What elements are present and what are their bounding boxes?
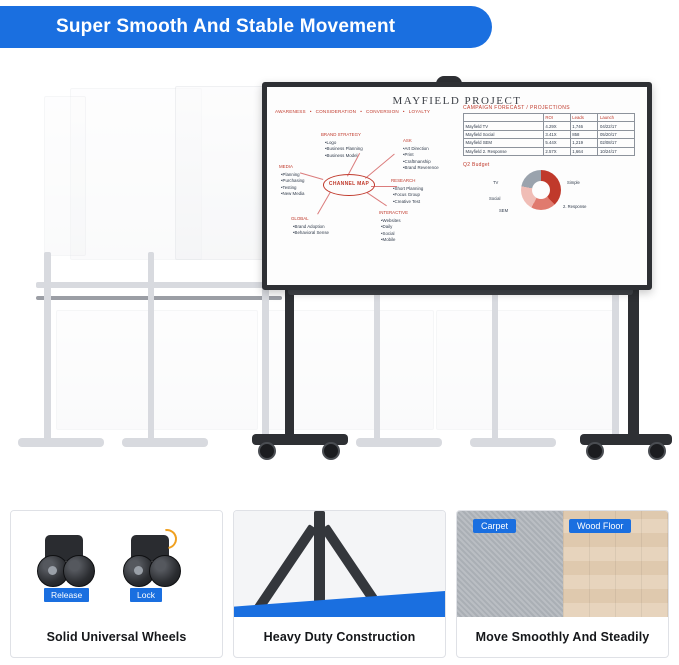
col-header-3: Launch bbox=[598, 114, 635, 122]
funnel-sep-0: • bbox=[310, 109, 312, 114]
carpet-badge: Carpet bbox=[473, 519, 516, 533]
ghost-foot-3 bbox=[356, 438, 442, 447]
wheels-media: Release Lock bbox=[11, 511, 222, 617]
caster-hub-left bbox=[48, 566, 57, 575]
hero-scene: MAYFIELD PROJECT AWARENESS • CONSIDERATI… bbox=[0, 52, 679, 497]
mindmap-branch-items-4: •Brand Adoption•Behavioral Sense bbox=[293, 224, 329, 237]
wood-floor-badge: Wood Floor bbox=[569, 519, 631, 533]
cell-r2c3: 02/08/17 bbox=[598, 139, 635, 147]
table-row: Mayfield Social 3.41X 858 05/20/17 bbox=[464, 130, 635, 138]
ghost-lower-panel-1 bbox=[56, 310, 258, 430]
col-header-0 bbox=[464, 114, 544, 122]
mindmap-spoke-3 bbox=[371, 186, 397, 187]
ghost-post-1 bbox=[44, 252, 51, 442]
col-header-2: Leads bbox=[570, 114, 598, 122]
mindmap-spoke-5 bbox=[366, 192, 386, 206]
ghost-board-3 bbox=[44, 96, 86, 256]
floors-caption: Move Smoothly And Steadily bbox=[457, 617, 668, 657]
donut-title: Q2 Budget bbox=[463, 162, 635, 168]
donut-label-3: Simple bbox=[567, 180, 580, 185]
cell-r3c0: Mayfield 2. Response bbox=[464, 147, 544, 155]
headline-banner: Super Smooth And Stable Movement bbox=[0, 6, 492, 48]
mindmap-spoke-1 bbox=[365, 154, 395, 179]
cell-r1c0: Mayfield Social bbox=[464, 130, 544, 138]
ghost-foot-1 bbox=[18, 438, 104, 447]
cell-r0c3: 04/22/17 bbox=[598, 122, 635, 130]
whiteboard-surface: MAYFIELD PROJECT AWARENESS • CONSIDERATI… bbox=[267, 87, 647, 285]
funnel-sep-1: • bbox=[360, 109, 362, 114]
mindmap: CHANNEL MAP BRAND STRATEGY •Logo•Busines… bbox=[275, 116, 455, 256]
mindmap-branch-label-0: BRAND STRATEGY bbox=[321, 132, 361, 138]
cell-r1c3: 05/20/17 bbox=[598, 130, 635, 138]
funnel-stage-1: CONSIDERATION bbox=[316, 109, 357, 114]
construction-caption: Heavy Duty Construction bbox=[234, 617, 445, 657]
caster-tire-left-2 bbox=[63, 555, 95, 587]
funnel-stage-2: CONVERSION bbox=[366, 109, 399, 114]
col-header-1: ROI bbox=[543, 114, 570, 122]
cell-r0c0: Mayfield TV bbox=[464, 122, 544, 130]
mindmap-branch-label-3: RESEARCH bbox=[391, 178, 415, 184]
funnel-stage-row: AWARENESS • CONSIDERATION • CONVERSION •… bbox=[275, 109, 455, 114]
budget-donut-chart: Q2 Budget TV Social SEM Simple 2. Respon… bbox=[463, 162, 635, 214]
lock-badge: Lock bbox=[129, 587, 163, 603]
feature-card-floors: Carpet Wood Floor Move Smoothly And Stea… bbox=[456, 510, 669, 658]
forecast-table: CAMPAIGN FORECAST / PROJECTIONS ROI Lead… bbox=[463, 105, 635, 156]
caster-wheel-front-left bbox=[258, 442, 276, 460]
board-mindmap-section: AWARENESS • CONSIDERATION • CONVERSION •… bbox=[275, 109, 455, 256]
caster-wheel-back-right bbox=[648, 442, 666, 460]
product-image-page: Super Smooth And Stable Movement bbox=[0, 0, 679, 665]
ghost-foot-4 bbox=[470, 438, 556, 447]
mindmap-branch-items-5: •Websites•Daily•Social•Mobile bbox=[381, 218, 401, 244]
mindmap-branch-label-1: ASK bbox=[403, 138, 412, 144]
cell-r2c0: Mayfield SEM bbox=[464, 139, 544, 147]
mindmap-branch-label-4: GLOBAL bbox=[291, 216, 309, 222]
table-row: Mayfield TV 4.29X 1,746 04/22/17 bbox=[464, 122, 635, 130]
ghost-crossbar-top bbox=[36, 282, 282, 288]
board-table-section: CAMPAIGN FORECAST / PROJECTIONS ROI Lead… bbox=[463, 105, 635, 214]
donut-ring bbox=[521, 170, 561, 210]
mindmap-branch-label-5: INTERACTIVE bbox=[379, 210, 408, 216]
cell-r1c2: 858 bbox=[570, 130, 598, 138]
mindmap-branch-items-2: •Planning•Purchasing•Testing•New Media bbox=[281, 172, 305, 198]
cell-r3c2: 1,664 bbox=[570, 147, 598, 155]
cell-r3c3: 10/24/17 bbox=[598, 147, 635, 155]
caster-tire-right-2 bbox=[149, 555, 181, 587]
caster-wheel-front-right bbox=[322, 442, 340, 460]
donut-label-4: 2. Response bbox=[563, 204, 587, 209]
funnel-sep-2: • bbox=[403, 109, 405, 114]
cell-r2c2: 1,219 bbox=[570, 139, 598, 147]
cell-r0c1: 4.29X bbox=[543, 122, 570, 130]
forecast-table-caption: CAMPAIGN FORECAST / PROJECTIONS bbox=[463, 105, 635, 113]
mindmap-branch-label-2: MEDIA bbox=[279, 164, 293, 170]
caster-wheel-back-left bbox=[586, 442, 604, 460]
donut-label-2: SEM bbox=[499, 208, 508, 213]
table-row: Mayfield 2. Response 2.57X 1,664 10/24/1… bbox=[464, 147, 635, 155]
ghost-foot-2 bbox=[122, 438, 208, 447]
construction-media bbox=[234, 511, 445, 617]
cell-r2c1: 5.44X bbox=[543, 139, 570, 147]
feature-card-construction: Heavy Duty Construction bbox=[233, 510, 446, 658]
mindmap-branch-items-3: •Short Planning•Focus Group•Creative Tes… bbox=[393, 186, 423, 205]
cell-r1c1: 3.41X bbox=[543, 130, 570, 138]
mindmap-spoke-4 bbox=[317, 192, 331, 215]
ghost-crossbar-2 bbox=[36, 296, 282, 300]
feature-card-wheels: Release Lock Solid Universal Wheels bbox=[10, 510, 223, 658]
ghost-post-2 bbox=[148, 252, 154, 442]
table-header-row: ROI Leads Launch bbox=[464, 114, 635, 122]
cell-r0c2: 1,746 bbox=[570, 122, 598, 130]
release-badge: Release bbox=[43, 587, 90, 603]
donut-label-0: TV bbox=[493, 180, 498, 185]
headline-text: Super Smooth And Stable Movement bbox=[0, 16, 395, 38]
cell-r3c1: 2.57X bbox=[543, 147, 570, 155]
funnel-stage-3: LOYALTY bbox=[409, 109, 430, 114]
feature-strip: Release Lock Solid Universal Wheels Heav… bbox=[0, 510, 679, 658]
funnel-stage-0: AWARENESS bbox=[275, 109, 306, 114]
caster-hub-right bbox=[134, 566, 143, 575]
table-row: Mayfield SEM 5.44X 1,219 02/08/17 bbox=[464, 139, 635, 147]
ghost-lower-panel-3 bbox=[436, 310, 618, 430]
mindmap-branch-items-1: •Art Direction•Print•Craftmanship•Brand … bbox=[403, 146, 439, 172]
donut-label-1: Social bbox=[489, 196, 500, 201]
wheels-caption: Solid Universal Wheels bbox=[11, 617, 222, 657]
floors-media: Carpet Wood Floor bbox=[457, 511, 668, 617]
main-whiteboard: MAYFIELD PROJECT AWARENESS • CONSIDERATI… bbox=[262, 82, 652, 290]
